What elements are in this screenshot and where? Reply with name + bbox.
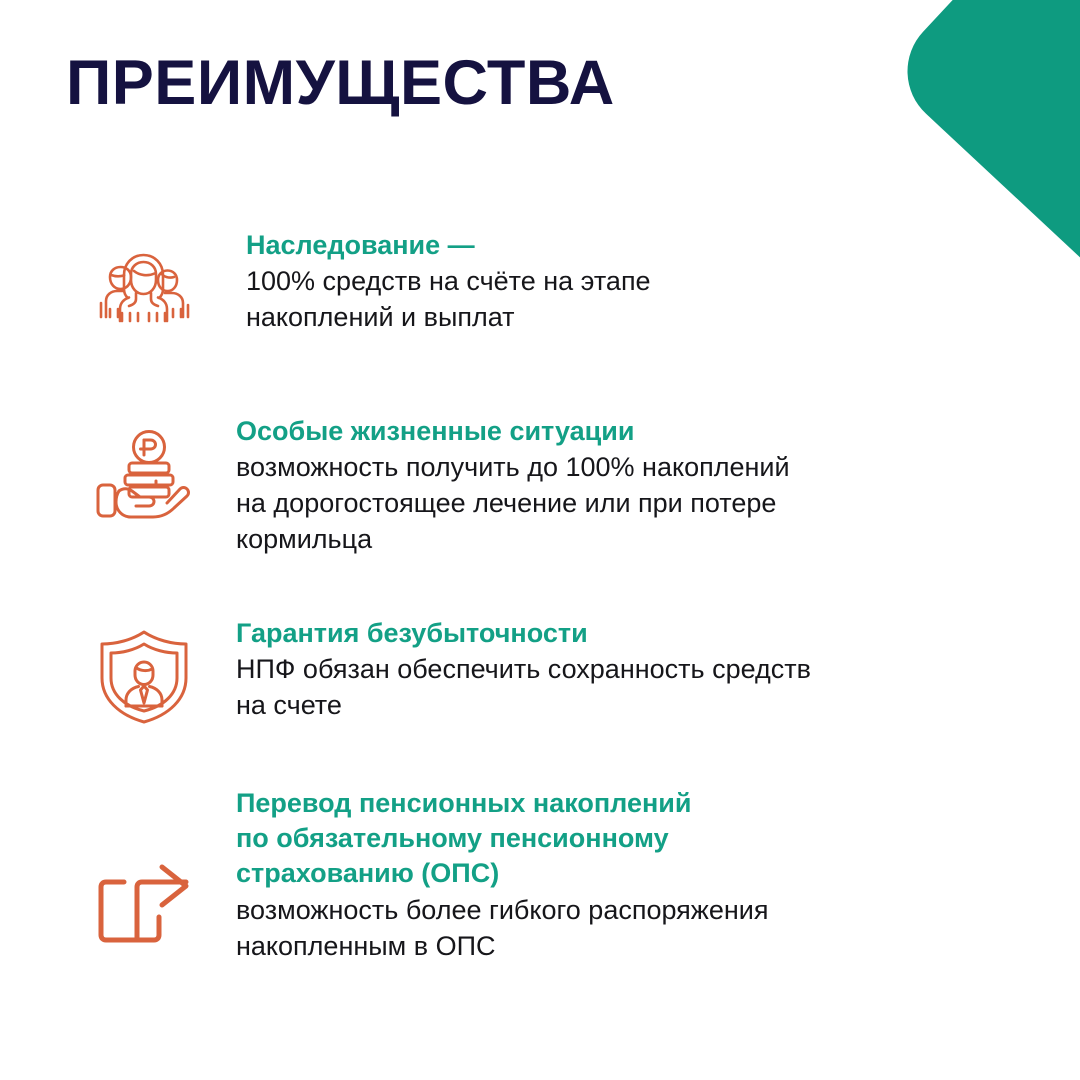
advantage-body: 100% средств на счёте на этапе накоплени… bbox=[246, 263, 946, 335]
advantage-body: возможность получить до 100% накоплений … bbox=[236, 449, 936, 557]
advantage-heading: Особые жизненные ситуации bbox=[236, 414, 936, 448]
advantage-text-breakeven-guarantee: Гарантия безубыточности НПФ обязан обесп… bbox=[236, 616, 936, 723]
advantage-body: НПФ обязан обеспечить сохранность средст… bbox=[236, 651, 936, 723]
advantage-heading: Наследование — bbox=[246, 228, 946, 262]
family-group-icon bbox=[84, 230, 204, 340]
advantage-heading: Перевод пенсионных накоплений по обязате… bbox=[236, 786, 936, 891]
advantages-slide: ПРЕИМУЩЕСТВА bbox=[0, 0, 1080, 1080]
advantage-heading: Гарантия безубыточности bbox=[236, 616, 936, 650]
share-export-arrow-icon bbox=[84, 850, 204, 960]
advantage-text-ops-transfer: Перевод пенсионных накоплений по обязате… bbox=[236, 786, 936, 964]
advantage-text-special-situations: Особые жизненные ситуации возможность по… bbox=[236, 414, 936, 557]
page-title: ПРЕИМУЩЕСТВА bbox=[66, 52, 615, 115]
advantage-body: возможность более гибкого распоряжения н… bbox=[236, 892, 936, 964]
hand-with-ruble-coins-icon bbox=[84, 424, 204, 534]
shield-with-person-icon bbox=[84, 622, 204, 732]
advantage-text-inheritance: Наследование — 100% средств на счёте на … bbox=[246, 228, 946, 335]
